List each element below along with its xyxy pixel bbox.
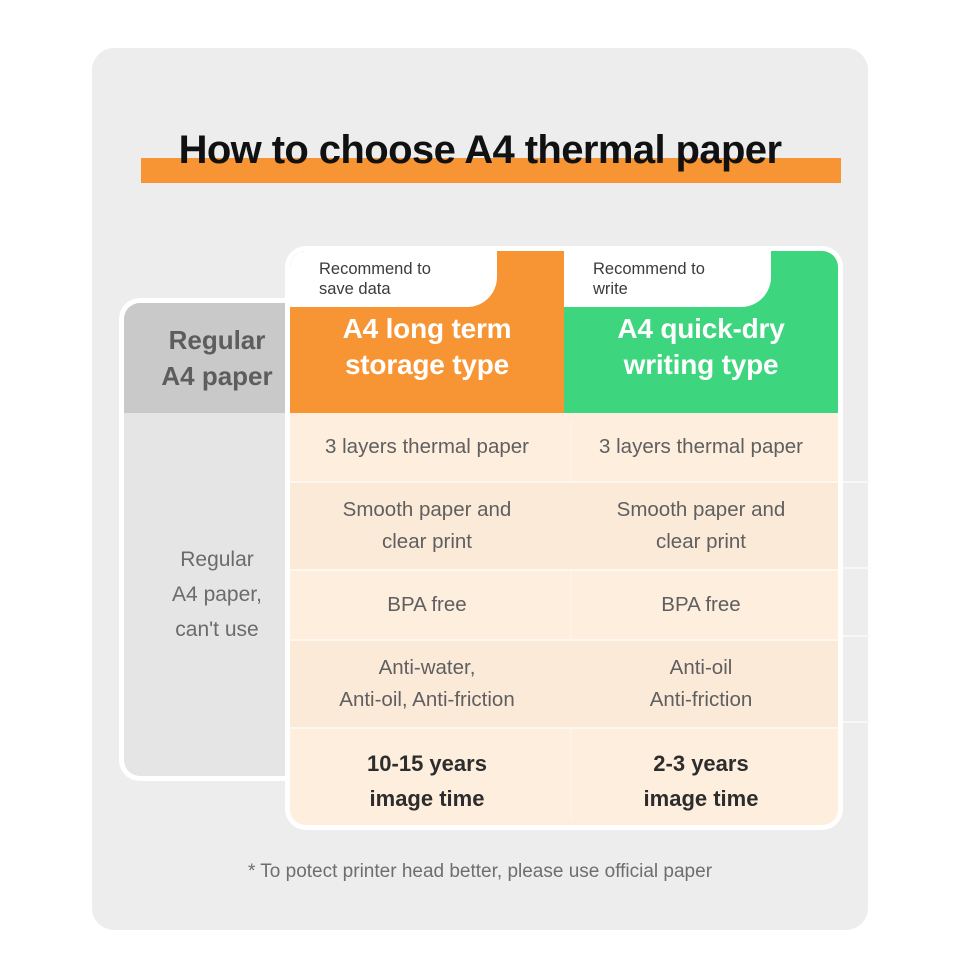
column-title-quick-dry-writing: A4 quick-dry writing type — [564, 311, 838, 383]
column-header-long-term-storage: Recommend to save data A4 long term stor… — [290, 251, 564, 413]
comparison-header-row: Recommend to save data A4 long term stor… — [290, 251, 838, 413]
recommend-tab-label: Recommend to save data — [319, 259, 497, 299]
table-row: Smooth paper and clear printSmooth paper… — [290, 481, 838, 569]
table-cell: BPA free — [564, 571, 838, 639]
table-cell: Smooth paper and clear print — [290, 483, 564, 569]
table-cell: Smooth paper and clear print — [564, 483, 838, 569]
comparison-rows: 3 layers thermal paper3 layers thermal p… — [290, 413, 838, 825]
regular-paper-header-text: Regular A4 paper — [161, 322, 272, 394]
table-row: 10-15 years image time2-3 years image ti… — [290, 727, 838, 825]
infographic-root: How to choose A4 thermal paper Regular A… — [0, 0, 960, 960]
column-title-long-term-storage: A4 long term storage type — [290, 311, 564, 383]
footnote: * To potect printer head better, please … — [92, 858, 868, 886]
recommend-tab-write: Recommend to write — [564, 251, 771, 307]
page-title: How to choose A4 thermal paper — [92, 122, 868, 192]
table-cell: 3 layers thermal paper — [290, 413, 564, 481]
table-cell: 3 layers thermal paper — [564, 413, 838, 481]
comparison-card: Recommend to save data A4 long term stor… — [290, 251, 838, 825]
table-cell: 2-3 years image time — [564, 729, 838, 825]
regular-paper-header: Regular A4 paper — [124, 303, 310, 413]
table-cell: Anti-water, Anti-oil, Anti-friction — [290, 641, 564, 727]
regular-paper-body: Regular A4 paper, can't use — [124, 413, 310, 776]
table-cell: BPA free — [290, 571, 564, 639]
page-title-text: How to choose A4 thermal paper — [92, 122, 868, 178]
table-row: 3 layers thermal paper3 layers thermal p… — [290, 413, 838, 481]
recommend-tab-label: Recommend to write — [593, 259, 771, 299]
table-row: Anti-water, Anti-oil, Anti-frictionAnti-… — [290, 639, 838, 727]
column-header-quick-dry-writing: Recommend to write A4 quick-dry writing … — [564, 251, 838, 413]
regular-paper-body-text: Regular A4 paper, can't use — [172, 542, 262, 647]
table-cell: Anti-oil Anti-friction — [564, 641, 838, 727]
recommend-tab-save-data: Recommend to save data — [290, 251, 497, 307]
regular-paper-card: Regular A4 paper Regular A4 paper, can't… — [124, 303, 310, 776]
table-cell: 10-15 years image time — [290, 729, 564, 825]
table-row: BPA freeBPA free — [290, 569, 838, 639]
